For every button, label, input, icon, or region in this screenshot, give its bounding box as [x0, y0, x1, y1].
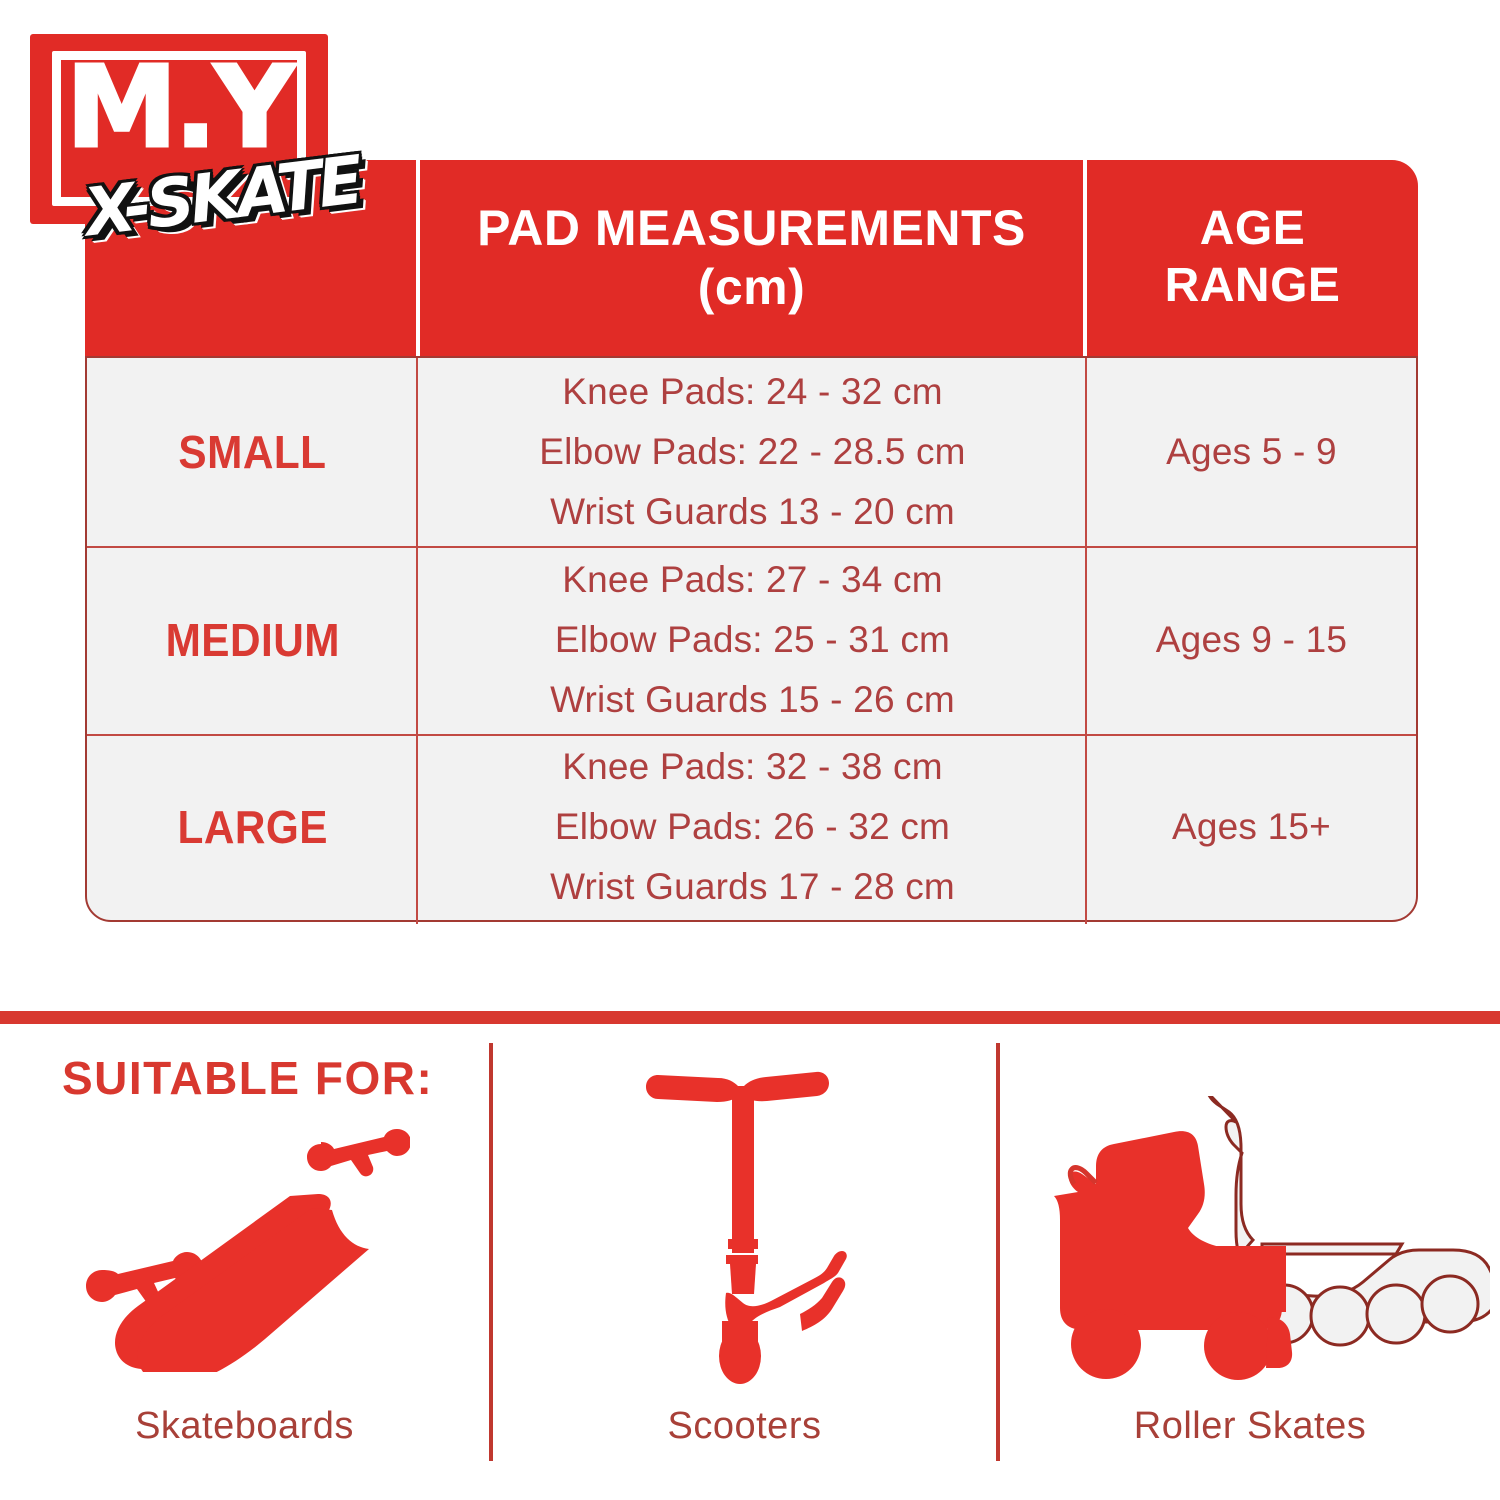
cell-age-range: Ages 9 - 15 — [1087, 546, 1416, 734]
table-row: SMALL Knee Pads: 24 - 32 cm Elbow Pads: … — [87, 358, 1416, 546]
header-cell-measurements: PAD MEASUREMENTS (cm) — [420, 160, 1083, 356]
skateboard-icon — [80, 1122, 410, 1372]
age-range-text: Ages 5 - 9 — [1166, 431, 1337, 473]
size-label: MEDIUM — [165, 613, 339, 667]
panel-label-roller-skates: Roller Skates — [1000, 1405, 1500, 1448]
size-label: LARGE — [177, 800, 327, 854]
suitable-for-title: SUITABLE FOR: — [62, 1051, 433, 1105]
suitable-for-section: SUITABLE FOR: Skateboards — [0, 1024, 1500, 1500]
section-divider-bar — [0, 1011, 1500, 1024]
table-body: SMALL Knee Pads: 24 - 32 cm Elbow Pads: … — [85, 356, 1418, 922]
panel-label-scooters: Scooters — [493, 1405, 996, 1448]
cell-measurements: Knee Pads: 24 - 32 cm Elbow Pads: 22 - 2… — [418, 358, 1087, 546]
size-label: SMALL — [178, 425, 326, 479]
row-divider — [87, 546, 1416, 548]
measurements-text: Knee Pads: 32 - 38 cm Elbow Pads: 26 - 3… — [550, 737, 955, 917]
cell-age-range: Ages 15+ — [1087, 734, 1416, 920]
panel-label-skateboards: Skateboards — [0, 1405, 489, 1448]
measurements-text: Knee Pads: 24 - 32 cm Elbow Pads: 22 - 2… — [539, 362, 965, 542]
suitable-panel-roller-skates: Roller Skates — [1000, 1024, 1500, 1500]
cell-size: MEDIUM — [87, 546, 418, 734]
row-divider — [87, 734, 1416, 736]
skateboard-icon-area — [0, 1112, 489, 1382]
scooter-icon-area — [493, 1096, 996, 1386]
header-label-age: AGE RANGE — [1165, 201, 1341, 314]
cell-measurements: Knee Pads: 27 - 34 cm Elbow Pads: 25 - 3… — [418, 546, 1087, 734]
age-range-text: Ages 15+ — [1172, 806, 1331, 848]
cell-measurements: Knee Pads: 32 - 38 cm Elbow Pads: 26 - 3… — [418, 734, 1087, 920]
table-row: LARGE Knee Pads: 32 - 38 cm Elbow Pads: … — [87, 734, 1416, 920]
header-label-measurements: PAD MEASUREMENTS (cm) — [477, 199, 1026, 317]
brand-logo: M.Y X-SKATE — [22, 28, 422, 298]
table-row: MEDIUM Knee Pads: 27 - 34 cm Elbow Pads:… — [87, 546, 1416, 734]
suitable-panel-scooters: Scooters — [493, 1024, 996, 1500]
age-range-text: Ages 9 - 15 — [1156, 619, 1347, 661]
cell-age-range: Ages 5 - 9 — [1087, 358, 1416, 546]
scooter-icon — [640, 1071, 850, 1411]
column-divider — [416, 358, 418, 924]
measurements-text: Knee Pads: 27 - 34 cm Elbow Pads: 25 - 3… — [550, 550, 955, 730]
suitable-panel-skateboards: SUITABLE FOR: Skateboards — [0, 1024, 489, 1500]
column-divider — [1085, 358, 1087, 924]
cell-size: SMALL — [87, 358, 418, 546]
cell-size: LARGE — [87, 734, 418, 920]
roller-skates-icon — [1010, 1096, 1490, 1386]
size-chart-page: M.Y X-SKATE PAD MEASUREMENTS (cm) AGE RA… — [0, 0, 1500, 1500]
header-cell-age: AGE RANGE — [1087, 160, 1418, 356]
roller-skates-icon-area — [1000, 1096, 1500, 1386]
